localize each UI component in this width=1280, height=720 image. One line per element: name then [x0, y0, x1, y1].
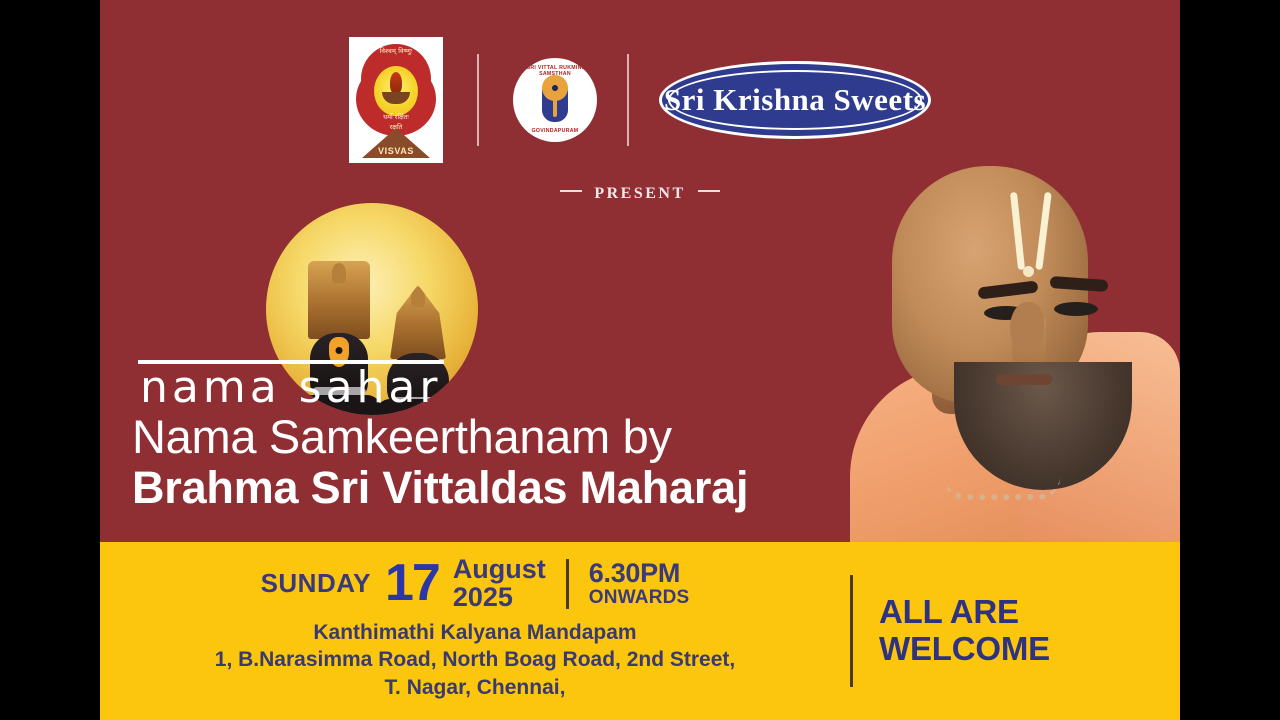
visvas-sanskrit-mid: धर्मो रक्षितः	[352, 112, 440, 121]
script-title: nama sahar	[140, 358, 442, 410]
samsthan-ring-bottom-text: GOVINDAPURAM	[513, 128, 597, 134]
portrait-eyebrow-left	[977, 280, 1038, 299]
portrait-eye-right	[1054, 302, 1098, 316]
welcome-divider	[850, 575, 853, 687]
event-time-block: 6.30PM ONWARDS	[589, 560, 690, 607]
poster-stage: विश्वम् विष्णुः धर्मो रक्षितः रक्षति VIS…	[0, 0, 1280, 720]
venue-name: Kanthimathi Kalyana Mandapam	[100, 619, 850, 646]
portrait-mouth	[996, 374, 1052, 385]
visvas-flame-icon	[390, 72, 402, 94]
event-time: 6.30PM	[589, 560, 690, 588]
letterbox-bar-left	[0, 0, 100, 720]
event-details-block: SUNDAY 17 August 2025 6.30PM ONWARDS Kan…	[100, 542, 850, 720]
logo-divider-1	[477, 54, 479, 146]
headline-block: nama sahar Nama Samkeerthanam by Brahma …	[132, 358, 892, 512]
event-title-line-2: Brahma Sri Vittaldas Maharaj	[132, 463, 892, 513]
present-label: Present	[594, 178, 685, 204]
letterbox-bar-right	[1180, 0, 1280, 720]
welcome-line-2: WELCOME	[879, 631, 1050, 668]
visvas-sanskrit-bottom: रक्षति	[352, 122, 440, 131]
visvas-logo-label: VISVAS	[352, 146, 440, 156]
portrait-head	[892, 166, 1088, 404]
vittal-crown-finial-icon	[332, 263, 346, 283]
present-dash-right-icon	[698, 190, 720, 192]
visvas-sanskrit-top: विश्वम् विष्णुः	[352, 46, 440, 55]
welcome-block: ALL ARE WELCOME	[850, 542, 1180, 720]
samsthan-drip-icon	[553, 91, 557, 117]
logo-divider-2	[627, 54, 629, 146]
venue-address-line-2: T. Nagar, Chennai,	[100, 674, 850, 701]
event-title-line-1: Nama Samkeerthanam by	[132, 412, 892, 463]
venue-block: Kanthimathi Kalyana Mandapam 1, B.Narasi…	[100, 619, 850, 701]
portrait-tilak-left-icon	[1010, 192, 1025, 270]
date-time-row: SUNDAY 17 August 2025 6.30PM ONWARDS	[100, 542, 850, 611]
sri-krishna-sweets-label: Sri Krishna Sweets	[664, 82, 926, 118]
sponsor-logo-row: विश्वम् विष्णुः धर्मो रक्षितः रक्षति VIS…	[100, 34, 1180, 166]
venue-address-line-1: 1, B.Narasimma Road, North Boag Road, 2n…	[100, 646, 850, 673]
event-poster: विश्वम् विष्णुः धर्मो रक्षितः रक्षति VIS…	[100, 0, 1180, 720]
welcome-line-1: ALL ARE	[879, 594, 1050, 631]
event-weekday: SUNDAY	[261, 568, 371, 599]
portrait-eyebrow-right	[1050, 276, 1109, 292]
event-day: 17	[385, 560, 439, 607]
samsthan-logo: SRI VITTAL RUKMINI SAMSTHAN GOVINDAPURAM	[513, 58, 597, 142]
event-year: 2025	[453, 584, 546, 612]
portrait-necklace-icon	[944, 478, 1060, 500]
portrait-tilak-right-icon	[1035, 192, 1051, 270]
rukmini-crown-finial-icon	[411, 287, 425, 307]
event-time-suffix: ONWARDS	[589, 588, 690, 607]
event-month: August	[453, 556, 546, 584]
portrait-tilak-dot-icon	[1023, 266, 1034, 277]
date-time-divider	[566, 559, 569, 609]
welcome-text: ALL ARE WELCOME	[879, 594, 1050, 668]
sri-krishna-sweets-logo: Sri Krishna Sweets	[659, 61, 931, 139]
portrait-ear	[1010, 302, 1044, 354]
rukmini-crown-icon	[390, 285, 446, 359]
vittal-crown-icon	[308, 261, 370, 339]
present-dash-left-icon	[560, 190, 582, 192]
event-month-year: August 2025	[453, 556, 546, 611]
vittal-eye-icon	[336, 347, 343, 354]
visvas-logo: विश्वम् विष्णुः धर्मो रक्षितः रक्षति VIS…	[349, 37, 443, 163]
